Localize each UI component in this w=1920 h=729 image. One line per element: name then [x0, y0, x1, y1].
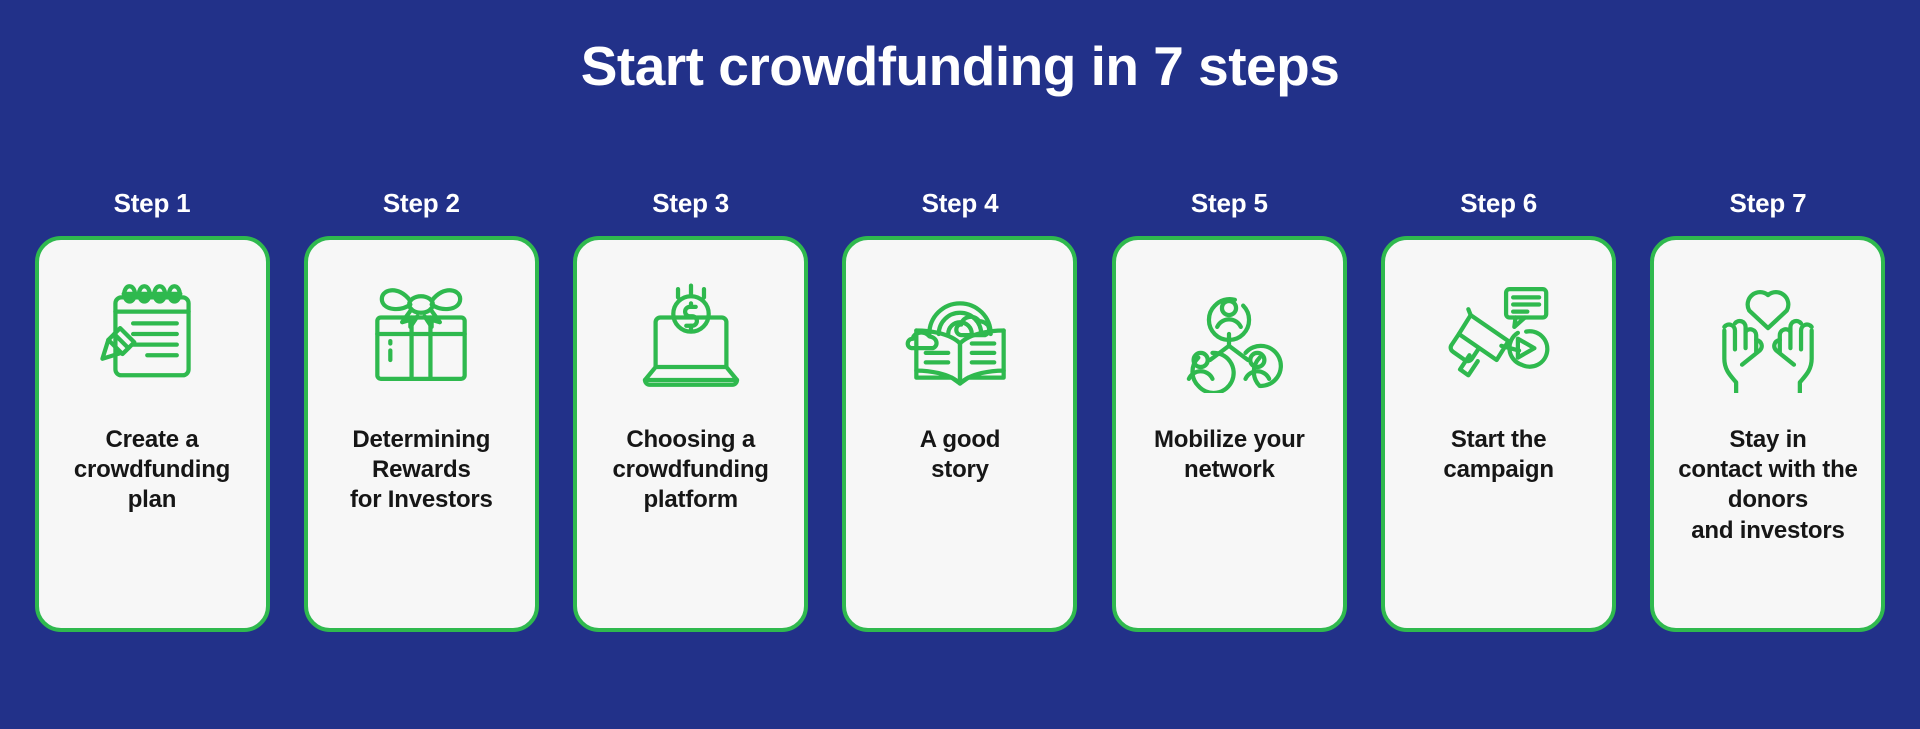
step-label-3: Step 3	[652, 188, 729, 219]
step-label-6: Step 6	[1460, 188, 1537, 219]
step-text-4: A good story	[908, 407, 1013, 628]
step-text-2: Determining Rewards for Investors	[338, 407, 505, 628]
step-text-5: Mobilize your network	[1142, 407, 1317, 628]
step-text-3: Choosing a crowdfunding platform	[601, 407, 781, 628]
step-card-2[interactable]: Determining Rewards for Investors	[304, 236, 539, 632]
gift-box-icon	[356, 266, 486, 401]
step-label-2: Step 2	[383, 188, 460, 219]
step-label-7: Step 7	[1730, 188, 1807, 219]
step-card-3[interactable]: Choosing a crowdfunding platform	[573, 236, 808, 632]
step-column-4: Step 4	[838, 188, 1082, 632]
notepad-pencil-icon	[87, 266, 217, 401]
step-card-1[interactable]: Create a crowdfunding plan	[35, 236, 270, 632]
step-column-2: Step 2	[299, 188, 543, 632]
step-text-7: Stay in contact with the donors and inve…	[1666, 407, 1869, 628]
step-column-3: Step 3 Choosing	[569, 188, 813, 632]
step-card-7[interactable]: Stay in contact with the donors and inve…	[1650, 236, 1885, 632]
laptop-dollar-icon	[626, 266, 756, 401]
people-network-icon	[1164, 266, 1294, 401]
step-text-6: Start the campaign	[1431, 407, 1565, 628]
step-column-1: Step 1	[30, 188, 274, 632]
step-label-5: Step 5	[1191, 188, 1268, 219]
heart-hands-icon	[1703, 266, 1833, 401]
step-label-1: Step 1	[114, 188, 191, 219]
infographic-poster: Start crowdfunding in 7 steps Step 1	[0, 0, 1920, 729]
step-column-7: Step 7	[1646, 188, 1890, 632]
step-card-5[interactable]: Mobilize your network	[1112, 236, 1347, 632]
book-rainbow-icon	[895, 266, 1025, 401]
step-card-6[interactable]: Start the campaign	[1381, 236, 1616, 632]
megaphone-icon	[1434, 266, 1564, 401]
step-card-4[interactable]: A good story	[842, 236, 1077, 632]
step-text-1: Create a crowdfunding plan	[62, 407, 242, 628]
step-column-5: Step 5	[1107, 188, 1351, 632]
step-column-6: Step 6	[1377, 188, 1621, 632]
page-title: Start crowdfunding in 7 steps	[0, 36, 1920, 97]
step-label-4: Step 4	[922, 188, 999, 219]
steps-row: Step 1	[30, 188, 1890, 632]
